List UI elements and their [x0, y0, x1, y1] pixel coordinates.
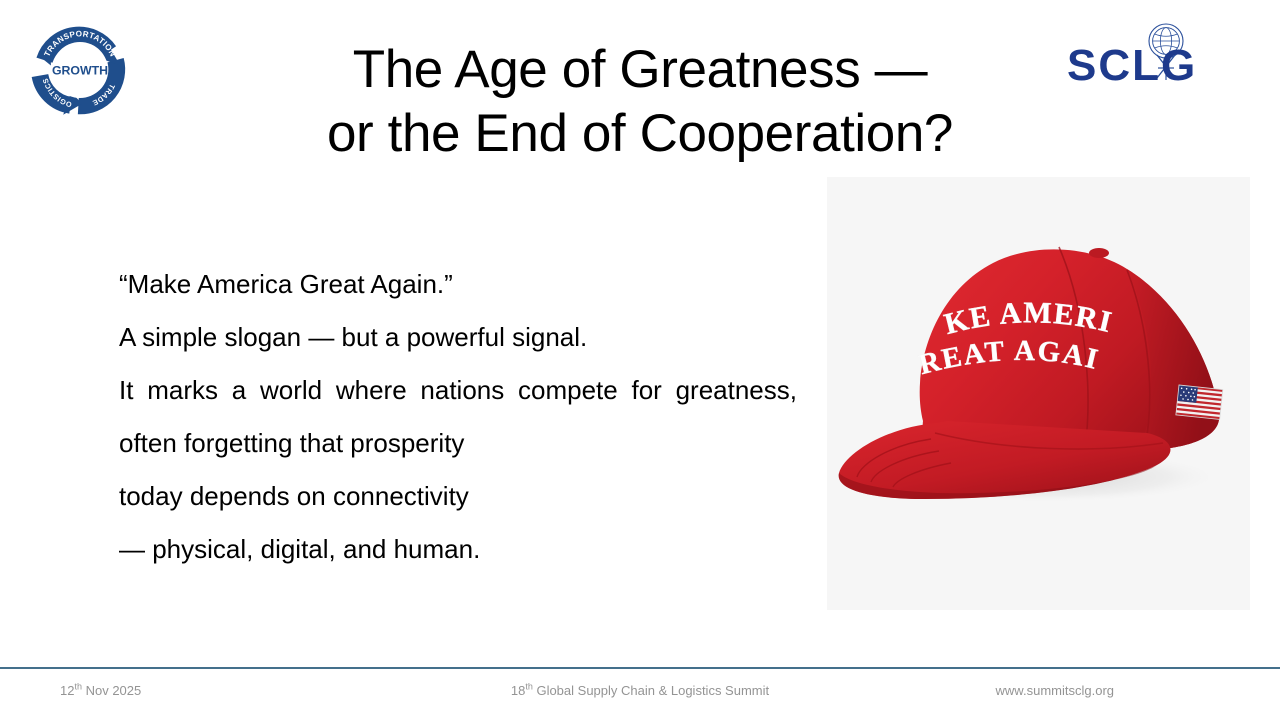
body-paragraph-closing: — physical, digital, and human. [119, 523, 797, 576]
body-content: “Make America Great Again.” A simple slo… [119, 258, 797, 576]
body-paragraph-main: It marks a world where nations compete f… [119, 364, 797, 523]
slide-canvas: GROWTH TRANSPORTATION TRADE LOGISTICS [0, 0, 1280, 720]
maga-cap-photo: MAKE AMERICA GREAT AGAIN [827, 177, 1250, 610]
growth-cycle-logo: GROWTH TRANSPORTATION TRADE LOGISTICS [24, 14, 136, 126]
body-paragraph-main-text: It marks a world where nations compete f… [119, 375, 797, 458]
body-paragraph-slogan: A simple slogan — but a powerful signal. [119, 311, 797, 364]
us-flag-patch [1176, 385, 1223, 419]
page-title: The Age of Greatness — or the End of Coo… [160, 38, 1120, 166]
body-paragraph-main-tail: today depends on connectivity [119, 470, 797, 523]
footer: 12th Nov 2025 18th Global Supply Chain &… [0, 682, 1280, 706]
page-title-line-1: The Age of Greatness — [160, 38, 1120, 102]
footer-divider [0, 667, 1280, 669]
footer-event-suffix: th [525, 682, 533, 692]
footer-event-rest: Global Supply Chain & Logistics Summit [533, 683, 769, 698]
page-title-line-2: or the End of Cooperation? [160, 102, 1120, 166]
growth-logo-center-label: GROWTH [52, 63, 108, 77]
footer-event-number: 18 [511, 683, 525, 698]
body-paragraph-quote: “Make America Great Again.” [119, 258, 797, 311]
footer-website[interactable]: www.summitsclg.org [996, 682, 1114, 700]
